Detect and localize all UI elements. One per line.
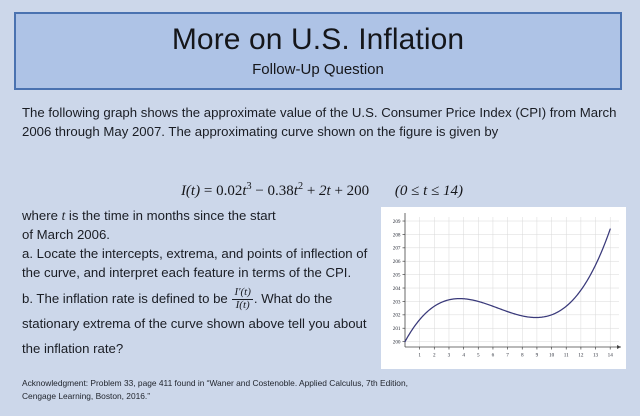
where-line-2: of March 2006. [22, 225, 378, 244]
x-tick-label: 12 [578, 353, 584, 359]
y-tick-label: 206 [393, 259, 401, 265]
x-tick-label: 2 [433, 353, 436, 359]
question-body: where t is the time in months since the … [22, 206, 378, 362]
where-line-1: where t is the time in months since the … [22, 206, 378, 225]
x-axis-arrow-icon [617, 345, 621, 349]
x-tick-label: 6 [492, 353, 495, 359]
y-tick-label: 207 [393, 246, 401, 252]
y-tick-label: 201 [393, 326, 401, 332]
formula-term2-sign: − [255, 183, 263, 199]
formula-term4: 200 [347, 183, 370, 199]
formula-lhs: I(t) [181, 183, 200, 199]
x-tick-label: 8 [521, 353, 524, 359]
x-tick-label: 9 [536, 353, 539, 359]
formula-term2-exp: 2 [298, 181, 303, 192]
y-tick-label: 208 [393, 232, 401, 238]
formula-term1-coef: 0.02 [216, 183, 242, 199]
formula-equals: = [204, 183, 212, 199]
acknowledgment-line-2: Cengage Learning, Boston, 2016.” [22, 390, 592, 403]
x-tick-label: 1 [418, 353, 421, 359]
inflation-rate-fraction: I′(t)I(t) [232, 287, 252, 312]
formula-term2-coef: 0.38 [268, 183, 294, 199]
x-tick-label: 4 [462, 353, 465, 359]
y-tick-label: 209 [393, 219, 401, 225]
cpi-chart-panel: 1234567891011121314200201202203204205206… [381, 207, 626, 369]
x-tick-label: 10 [549, 353, 555, 359]
where-prefix: where [22, 208, 62, 223]
part-b-prefix: b. The inflation rate is defined to be [22, 291, 231, 306]
title-banner: More on U.S. Inflation Follow-Up Questio… [14, 12, 622, 90]
y-tick-label: 204 [393, 286, 401, 292]
question-part-a: a. Locate the intercepts, extrema, and p… [22, 244, 378, 282]
x-tick-label: 13 [593, 353, 599, 359]
y-tick-label: 203 [393, 299, 401, 305]
formula-line: I(t) = 0.02t3 − 0.38t2 + 2t + 200 (0 ≤ t… [22, 181, 622, 200]
formula-domain: (0 ≤ t ≤ 14) [395, 183, 463, 199]
formula-term3-sign: + [307, 183, 315, 199]
page-title: More on U.S. Inflation [172, 24, 464, 56]
acknowledgment-line-1: Acknowledgment: Problem 33, page 411 fou… [22, 377, 592, 390]
intro-paragraph: The following graph shows the approximat… [22, 104, 622, 141]
page-subtitle: Follow-Up Question [252, 61, 384, 78]
formula-term3: 2t [319, 183, 331, 199]
question-part-b: b. The inflation rate is defined to be I… [22, 286, 378, 362]
fraction-numerator: I′(t) [232, 287, 252, 300]
y-tick-label: 200 [393, 340, 401, 346]
where-suffix: is the time in months since the start [65, 208, 275, 223]
cpi-chart: 1234567891011121314200201202203204205206… [381, 207, 626, 369]
fraction-denominator: I(t) [232, 300, 252, 312]
y-tick-label: 202 [393, 313, 401, 319]
x-tick-label: 11 [564, 353, 569, 359]
x-tick-label: 3 [448, 353, 451, 359]
acknowledgment: Acknowledgment: Problem 33, page 411 fou… [22, 377, 592, 402]
formula-term1-exp: 3 [246, 181, 251, 192]
x-tick-label: 5 [477, 353, 480, 359]
x-tick-label: 7 [506, 353, 509, 359]
x-tick-label: 14 [608, 353, 614, 359]
formula-term4-sign: + [334, 183, 342, 199]
y-tick-label: 205 [393, 273, 401, 279]
